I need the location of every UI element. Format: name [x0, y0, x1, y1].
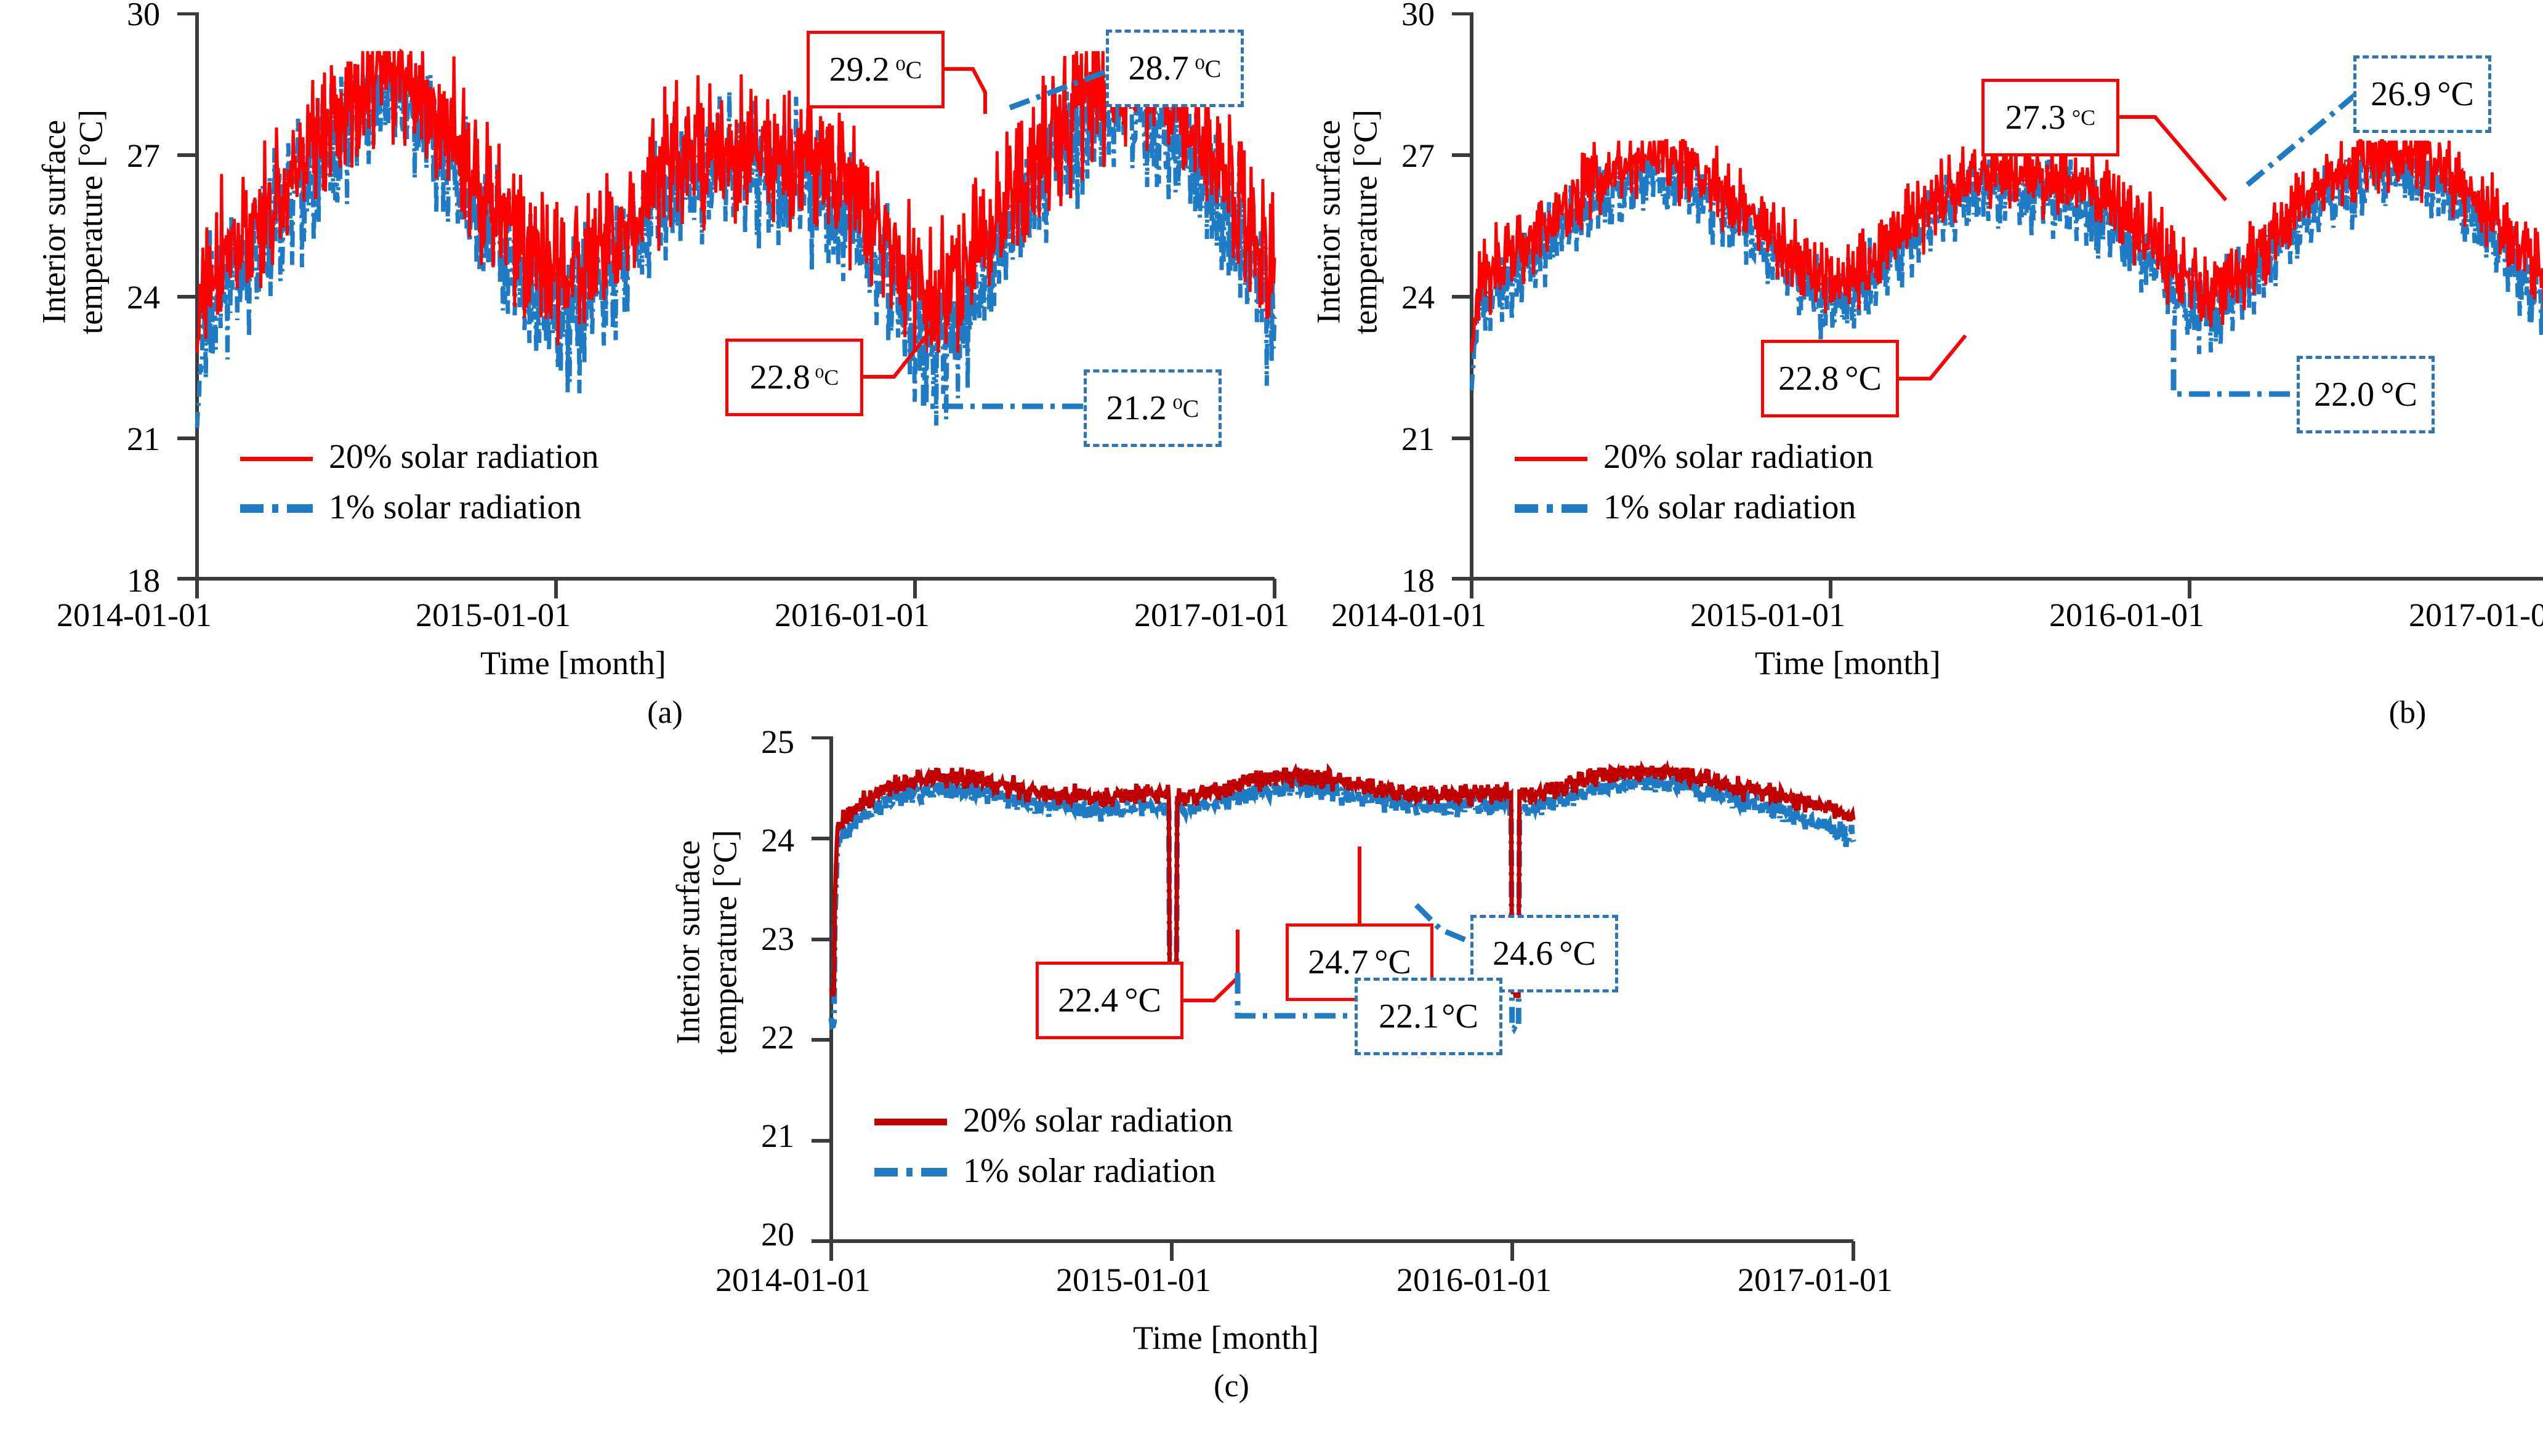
- panel-c-xtick-2017: 2017-01-01: [1738, 1261, 1893, 1299]
- annotation-unit: °C: [1374, 943, 1411, 982]
- panel-b-xtick-2017: 2017-01-01: [2409, 596, 2543, 634]
- panel-b-annotation-min-20pct: 22.8 °C: [1761, 340, 1899, 417]
- annotation-unit: ⁰C: [1195, 54, 1222, 83]
- panel-c-xtick-2016: 2016-01-01: [1396, 1261, 1552, 1299]
- y-title-line2: temperature [°C]: [1347, 31, 1384, 412]
- annotation-value: 24.7: [1308, 943, 1368, 982]
- annotation-value: 22.0: [2314, 375, 2374, 414]
- panel-b-ytick-27: 27: [1355, 137, 1435, 175]
- panel-c-ytick-22: 22: [714, 1018, 794, 1056]
- legend-item-20pct[interactable]: 20% solar radiation: [874, 1101, 1233, 1140]
- annotation-value: 27.3: [2005, 98, 2066, 137]
- panel-b-xtick-2014: 2014-01-01: [1331, 596, 1486, 634]
- annotation-unit: °C: [2072, 105, 2095, 131]
- panel-c-ytick-24: 24: [714, 821, 794, 859]
- legend-swatch-dashdot-blue-icon: [1515, 504, 1587, 513]
- annotation-unit: °C: [2380, 375, 2417, 414]
- panel-b-ytick-21: 21: [1355, 420, 1435, 458]
- panel-b-xtick-2016: 2016-01-01: [2049, 596, 2204, 634]
- panel-b-xtick-2015: 2015-01-01: [1690, 596, 1845, 634]
- legend-swatch-solid-red-icon: [240, 457, 313, 461]
- annotation-unit: °C: [2437, 74, 2474, 114]
- panel-b-annotation-min-1pct: 22.0 °C: [2297, 356, 2435, 433]
- legend-swatch-solid-red-icon: [1515, 457, 1587, 461]
- panel-c: Interior surface temperature [°C] 25 24 …: [622, 726, 1890, 1456]
- panel-a-ytick-18: 18: [80, 561, 160, 600]
- panel-b-ytick-18: 18: [1355, 561, 1435, 600]
- panel-a-ytick-30: 30: [80, 0, 160, 33]
- panel-b: Interior surface temperature [°C] 30 27 …: [1275, 0, 2543, 739]
- legend-label-20pct: 20% solar radiation: [329, 437, 599, 477]
- panel-b-x-axis-title: Time [month]: [1755, 644, 1941, 682]
- annotation-value: 22.8: [1778, 359, 1839, 398]
- panel-a: Interior surface temperature [°C] 30 27 …: [0, 0, 1268, 739]
- annotation-unit: °C: [1559, 934, 1596, 973]
- annotation-unit: °C: [1845, 359, 1882, 398]
- panel-a-annotation-max-1pct: 28.7 ⁰C: [1106, 30, 1244, 107]
- annotation-value: 22.4: [1058, 981, 1118, 1020]
- panel-c-annotation-min-20pct: 22.4 °C: [1036, 962, 1183, 1039]
- annotation-value: 29.2: [829, 50, 890, 89]
- panel-a-y-axis-title: Interior surface temperature [°C]: [36, 31, 110, 412]
- panel-c-xtick-2014: 2014-01-01: [715, 1261, 871, 1299]
- panel-b-legend: 20% solar radiation 1% solar radiation: [1515, 437, 1874, 538]
- panel-c-ytick-21: 21: [714, 1117, 794, 1155]
- panel-b-annotation-max-1pct: 26.9 °C: [2353, 55, 2491, 133]
- legend-label-20pct: 20% solar radiation: [1603, 437, 1874, 477]
- panel-a-xtick-2014: 2014-01-01: [57, 596, 212, 634]
- panel-c-ytick-23: 23: [714, 920, 794, 958]
- panel-b-caption: (b): [2371, 694, 2444, 731]
- legend-item-1pct[interactable]: 1% solar radiation: [874, 1151, 1233, 1191]
- annotation-unit: ⁰C: [1173, 394, 1199, 423]
- panel-c-legend: 20% solar radiation 1% solar radiation: [874, 1101, 1233, 1202]
- annotation-value: 26.9: [2371, 74, 2431, 114]
- panel-a-annotation-max-20pct: 29.2 ⁰C: [807, 31, 945, 108]
- panel-b-y-axis-title: Interior surface temperature [°C]: [1310, 31, 1385, 412]
- legend-swatch-solid-darkred-icon: [874, 1119, 947, 1125]
- panel-a-ytick-21: 21: [80, 420, 160, 458]
- panel-a-legend: 20% solar radiation 1% solar radiation: [240, 437, 599, 538]
- legend-label-20pct: 20% solar radiation: [963, 1101, 1233, 1140]
- annotation-value: 22.1: [1379, 997, 1439, 1036]
- y-title-line2: temperature [°C]: [73, 31, 110, 412]
- panel-a-annotation-min-20pct: 22.8 ⁰C: [725, 339, 863, 416]
- legend-item-20pct[interactable]: 20% solar radiation: [1515, 437, 1874, 477]
- y-title-line1: Interior surface: [1310, 31, 1347, 412]
- legend-item-20pct[interactable]: 20% solar radiation: [240, 437, 599, 477]
- legend-label-1pct: 1% solar radiation: [1603, 488, 1856, 527]
- annotation-unit: °C: [1441, 997, 1478, 1036]
- annotation-value: 21.2: [1106, 388, 1167, 428]
- panel-a-ytick-27: 27: [80, 137, 160, 175]
- legend-item-1pct[interactable]: 1% solar radiation: [1515, 488, 1874, 527]
- panel-a-annotation-min-1pct: 21.2 ⁰C: [1084, 369, 1222, 447]
- panel-c-ytick-25: 25: [714, 723, 794, 761]
- panel-a-xtick-2015: 2015-01-01: [416, 596, 571, 634]
- annotation-unit: ⁰C: [896, 55, 922, 84]
- panel-a-ytick-24: 24: [80, 278, 160, 316]
- panel-a-xtick-2016: 2016-01-01: [775, 596, 930, 634]
- y-title-line1: Interior surface: [670, 751, 707, 1133]
- panel-c-annotation-min-1pct: 22.1 °C: [1355, 978, 1502, 1055]
- panel-b-ytick-30: 30: [1355, 0, 1435, 33]
- annotation-value: 24.6: [1493, 934, 1553, 973]
- legend-swatch-dashdot-blue-icon: [240, 504, 313, 513]
- panel-b-annotation-max-20pct: 27.3 °C: [1981, 79, 2119, 156]
- panel-c-xtick-2015: 2015-01-01: [1056, 1261, 1211, 1299]
- panel-c-x-axis-title: Time [month]: [1133, 1319, 1319, 1357]
- annotation-unit: °C: [1124, 981, 1161, 1020]
- panel-a-xtick-2017: 2017-01-01: [1134, 596, 1289, 634]
- legend-label-1pct: 1% solar radiation: [329, 488, 582, 527]
- legend-swatch-dashdot-blue-icon: [874, 1168, 947, 1176]
- annotation-value: 22.8: [750, 358, 810, 397]
- annotation-unit: ⁰C: [815, 364, 839, 390]
- panel-c-plot: [807, 736, 1890, 1303]
- y-title-line1: Interior surface: [36, 31, 73, 412]
- panel-a-caption: (a): [628, 694, 702, 731]
- annotation-value: 28.7: [1129, 49, 1189, 88]
- panel-b-ytick-24: 24: [1355, 278, 1435, 316]
- panel-c-ytick-20: 20: [714, 1215, 794, 1253]
- panel-c-caption: (c): [1195, 1368, 1268, 1404]
- legend-label-1pct: 1% solar radiation: [963, 1151, 1216, 1191]
- legend-item-1pct[interactable]: 1% solar radiation: [240, 488, 599, 527]
- panel-a-x-axis-title: Time [month]: [480, 644, 666, 682]
